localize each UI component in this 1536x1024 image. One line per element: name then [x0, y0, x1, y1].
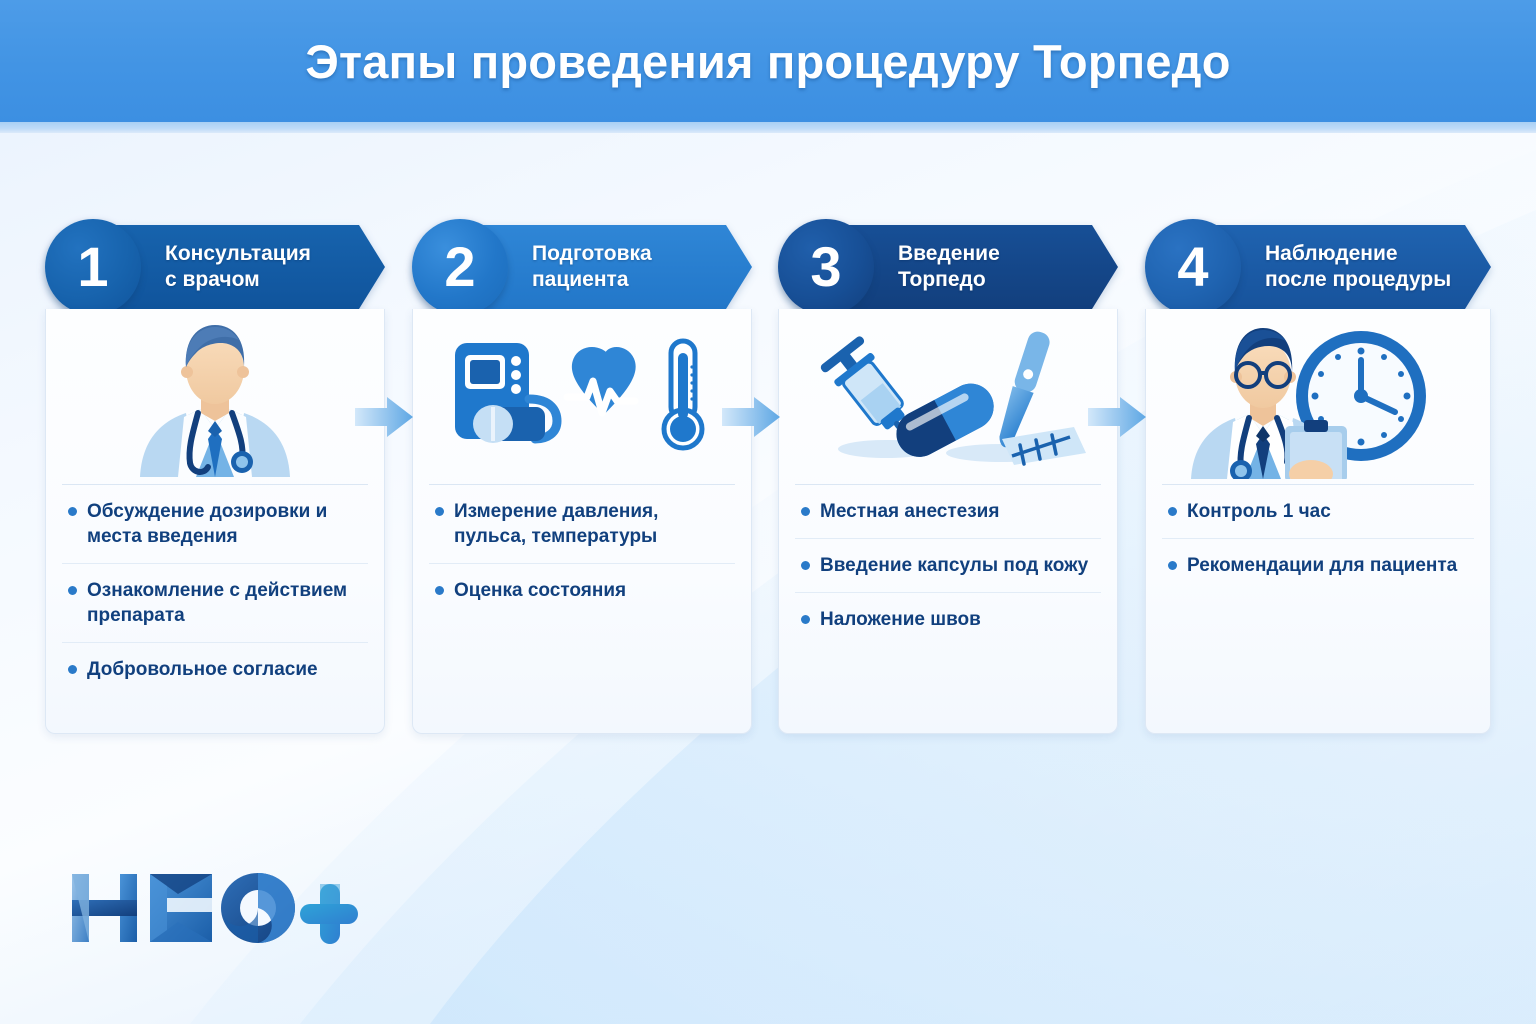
logo-letter-n: [72, 874, 137, 942]
blood-pressure-monitor-icon: [455, 343, 557, 443]
list-item-label: Местная анестезия: [820, 499, 999, 524]
step-card-4[interactable]: 4 Наблюдение после процедуры: [1145, 225, 1491, 734]
arrow-step1-to-step2: [355, 395, 413, 439]
step-card-2[interactable]: 2 Подготовка пациента: [412, 225, 752, 734]
step-number-badge-2: 2: [412, 219, 508, 315]
bullet-dot-icon: [68, 665, 77, 674]
step-title-3: Введение Торпедо: [898, 241, 1030, 292]
heart-pulse-icon: [567, 346, 636, 414]
header-accent-stripe: [0, 122, 1536, 133]
list-item[interactable]: Оценка состояния: [429, 563, 735, 617]
doctor-clock-illustration: [1146, 309, 1490, 484]
thermometer-icon: [664, 341, 702, 448]
bullet-dot-icon: [435, 586, 444, 595]
step-title-4: Наблюдение после процедуры: [1265, 241, 1481, 292]
step-card-1[interactable]: 1 Консультация с врачом: [45, 225, 385, 734]
neo-plus-logo[interactable]: [68, 868, 358, 948]
bullet-dot-icon: [801, 507, 810, 516]
arrow-step2-to-step3: [722, 395, 780, 439]
list-item[interactable]: Добровольное согласие: [62, 642, 368, 696]
step-3-banner: 3 Введение Торпедо: [813, 225, 1118, 309]
bullet-dot-icon: [68, 586, 77, 595]
list-item-label: Обсуждение дозировки и места введения: [87, 499, 364, 549]
bullet-dot-icon: [1168, 561, 1177, 570]
step-1-body: Обсуждение дозировки и места введения Оз…: [45, 309, 385, 734]
list-item[interactable]: Наложение швов: [795, 592, 1101, 646]
doctor-illustration: [46, 309, 384, 484]
list-item[interactable]: Ознакомление с действием препарата: [62, 563, 368, 642]
step-title-2: Подготовка пациента: [532, 241, 682, 292]
list-item[interactable]: Местная анестезия: [795, 484, 1101, 538]
list-item-label: Контроль 1 час: [1187, 499, 1331, 524]
list-item[interactable]: Контроль 1 час: [1162, 484, 1474, 538]
surgical-icons: [779, 309, 1117, 484]
list-item[interactable]: Измерение давления, пульса, температуры: [429, 484, 735, 563]
list-item-label: Ознакомление с действием препарата: [87, 578, 364, 628]
step-1-list: Обсуждение дозировки и места введения Оз…: [46, 484, 384, 710]
page-title: Этапы проведения процедуру Торпедо: [305, 34, 1230, 89]
step-number-badge-1: 1: [45, 219, 141, 315]
vitals-icons: [413, 309, 751, 484]
step-4-body: Контроль 1 час Рекомендации для пациента: [1145, 309, 1491, 734]
bullet-dot-icon: [801, 561, 810, 570]
arrow-step3-to-step4: [1088, 395, 1146, 439]
step-4-banner: 4 Наблюдение после процедуры: [1180, 225, 1491, 309]
list-item[interactable]: Рекомендации для пациента: [1162, 538, 1474, 592]
logo-letter-o: [221, 873, 295, 943]
list-item[interactable]: Обсуждение дозировки и места введения: [62, 484, 368, 563]
step-3-list: Местная анестезия Введение капсулы под к…: [779, 484, 1117, 660]
logo-plus-icon: [300, 884, 358, 944]
steps-container: 1 Консультация с врачом: [0, 225, 1536, 745]
list-item-label: Введение капсулы под кожу: [820, 553, 1088, 578]
step-4-list: Контроль 1 час Рекомендации для пациента: [1146, 484, 1490, 606]
list-item-label: Наложение швов: [820, 607, 981, 632]
list-item-label: Рекомендации для пациента: [1187, 553, 1457, 578]
bullet-dot-icon: [435, 507, 444, 516]
page-header: Этапы проведения процедуру Торпедо: [0, 0, 1536, 122]
step-2-body: Измерение давления, пульса, температуры …: [412, 309, 752, 734]
step-number-badge-3: 3: [778, 219, 874, 315]
step-title-1: Консультация с врачом: [165, 241, 341, 292]
step-2-list: Измерение давления, пульса, температуры …: [413, 484, 751, 631]
list-item-label: Оценка состояния: [454, 578, 626, 603]
step-number-badge-4: 4: [1145, 219, 1241, 315]
step-1-banner: 1 Консультация с врачом: [80, 225, 385, 309]
step-2-banner: 2 Подготовка пациента: [447, 225, 752, 309]
list-item-label: Измерение давления, пульса, температуры: [454, 499, 731, 549]
bullet-dot-icon: [68, 507, 77, 516]
logo-letter-e: [150, 874, 212, 942]
bullet-dot-icon: [1168, 507, 1177, 516]
bullet-dot-icon: [801, 615, 810, 624]
step-3-body: Местная анестезия Введение капсулы под к…: [778, 309, 1118, 734]
step-card-3[interactable]: 3 Введение Торпедо: [778, 225, 1118, 734]
list-item[interactable]: Введение капсулы под кожу: [795, 538, 1101, 592]
list-item-label: Добровольное согласие: [87, 657, 318, 682]
